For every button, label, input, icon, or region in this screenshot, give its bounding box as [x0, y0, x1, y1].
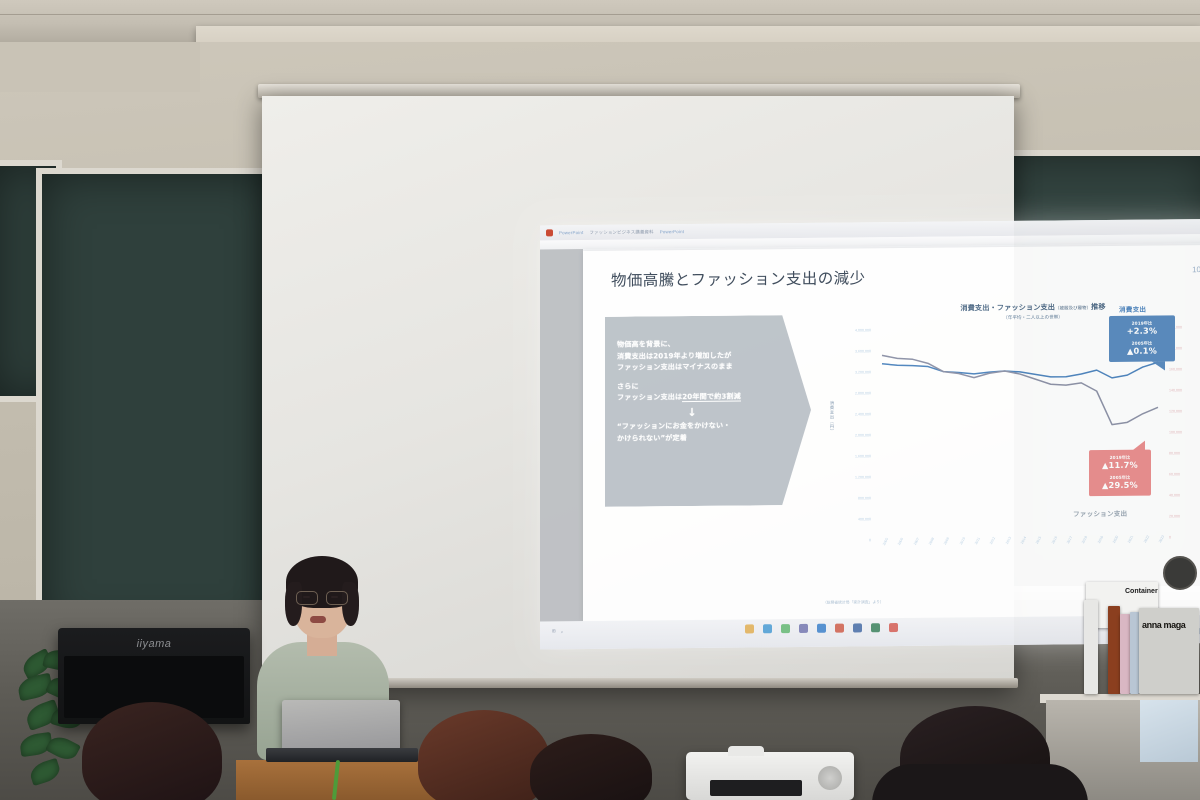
wall-clock [1163, 556, 1197, 590]
callout-line-5-emphasis: 20年間で約3割減 [682, 392, 741, 403]
magazine-spine-1 [1084, 600, 1098, 694]
down-arrow-icon: ↓ [617, 402, 767, 420]
magazine-container-label: Container [1125, 588, 1158, 595]
series-label-consumption: 消費支出 [1119, 304, 1146, 314]
magazine-anna-label: anna maga [1142, 620, 1185, 630]
chalkboard-main [36, 168, 280, 640]
magazine-spine-4 [1130, 612, 1139, 694]
presenter-mouth [310, 616, 326, 623]
chart-source-note: （総務省統計局「家計調査」より） [823, 600, 884, 606]
callout-line-7: かけられない”が定着 [617, 430, 817, 444]
chart-ytick-left: 3,600,000 [855, 349, 871, 353]
tissue-box [1140, 700, 1198, 762]
chart-ytick-left: 0 [869, 538, 871, 542]
projector-lens [818, 766, 842, 790]
search-icon[interactable]: ⌕ [561, 629, 564, 634]
chart-ytick-right: 60,000 [1169, 472, 1180, 476]
chart-ytick-right: 0 [1169, 535, 1171, 539]
chart-title-small: （被服及び履物） [1055, 306, 1091, 311]
chart-y-axis-label: 消費支出（円） [829, 401, 835, 434]
chart-ytick-left: 3,200,000 [855, 370, 871, 374]
chart-ytick-right: 120,000 [1169, 409, 1182, 413]
chart-ytick-right: 40,000 [1169, 493, 1180, 497]
titlebar-document-name: ファッションビジネス講義資料 [589, 229, 653, 236]
outlook-icon[interactable] [817, 624, 826, 633]
projector-port-panel [710, 780, 802, 796]
titlebar-app-name: PowerPoint [559, 230, 583, 235]
projector-lens-knob [728, 746, 764, 756]
slide-title: 物価高騰とファッション支出の減少 [611, 266, 865, 290]
monitor-brand-label: iiyama [137, 638, 172, 650]
callout-text-block: 物価高を背景に、 消費支出は2019年より増加したが ファッション支出はマイナス… [617, 337, 817, 444]
chart-ytick-left: 2,000,000 [855, 433, 871, 437]
chart-ytick-left: 2,400,000 [855, 412, 871, 416]
chart-ytick-left: 1,200,000 [855, 475, 871, 479]
projector [686, 752, 854, 800]
chart-ytick-left: 800,000 [858, 496, 871, 500]
powerpoint-app-icon [546, 229, 553, 236]
chart-ytick-right: 20,000 [1169, 514, 1180, 518]
chart-ytick-right: 160,000 [1169, 367, 1182, 371]
powerpoint-icon[interactable] [835, 624, 844, 633]
chart[interactable]: 消費支出・ファッション支出（被服及び履物）推移 （年平均・二人以上の世帯） 消費… [823, 301, 1200, 605]
presenter-laptop-base [266, 748, 418, 762]
magazine-spine-3 [1120, 614, 1130, 694]
annotation-consumption-row2-value: ▲0.1% [1109, 346, 1175, 356]
magazine-spine-2 [1108, 606, 1120, 694]
taskbar-app-icons[interactable] [745, 623, 898, 633]
taskbar-left-group: ⊞ ⌕ [552, 628, 564, 634]
audience-shoulders-4 [872, 764, 1088, 800]
screenshot-root: PowerPoint ファッションビジネス講義資料 PowerPoint – □… [0, 0, 1200, 800]
edge-icon[interactable] [763, 624, 772, 633]
chart-ytick-right: 140,000 [1169, 388, 1182, 392]
chart-ytick-left: 2,800,000 [855, 391, 871, 395]
chart-title-tail: 推移 [1091, 302, 1106, 311]
annotation-fashion-row1-value: ▲11.7% [1089, 461, 1151, 471]
chart-line-消費支出 [882, 361, 1158, 380]
callout-line-5-pre: ファッション支出は [617, 392, 682, 402]
chart-line-ファッション支出 [882, 353, 1158, 427]
titlebar-suffix: PowerPoint [660, 229, 684, 234]
annotation-fashion: 2019年比 ▲11.7% 2005年比 ▲29.5% [1089, 450, 1151, 497]
chart-title-main: 消費支出・ファッション支出 [960, 303, 1055, 313]
file-explorer-icon[interactable] [745, 624, 754, 633]
slide-left-gutter [540, 249, 583, 623]
slide-number: 10 [1192, 265, 1200, 274]
start-button[interactable]: ⊞ [552, 628, 556, 634]
presenter-laptop-lid [282, 700, 400, 752]
callout-line-5: ファッション支出は20年間で約3割減 [617, 390, 817, 404]
teams-icon[interactable] [799, 624, 808, 633]
excel-icon[interactable] [871, 623, 880, 632]
chrome-icon[interactable] [781, 624, 790, 633]
annotation-fashion-row2-value: ▲29.5% [1089, 480, 1151, 490]
word-icon[interactable] [853, 623, 862, 632]
chart-ytick-left: 400,000 [858, 517, 871, 521]
slide-canvas[interactable]: 物価高騰とファッション支出の減少 10 物価高を背景に、 消費支出は2019年よ… [583, 245, 1200, 623]
chart-ytick-left: 4,000,000 [855, 328, 871, 332]
wall-upper-left [0, 42, 200, 92]
annotation-consumption: 2019年比 +2.3% 2005年比 ▲0.1% [1109, 315, 1175, 362]
chart-ytick-left: 1,600,000 [855, 454, 871, 458]
chart-ytick-right: 100,000 [1169, 430, 1182, 434]
chart-ytick-right: 80,000 [1169, 451, 1180, 455]
zoom-icon[interactable] [889, 623, 898, 632]
